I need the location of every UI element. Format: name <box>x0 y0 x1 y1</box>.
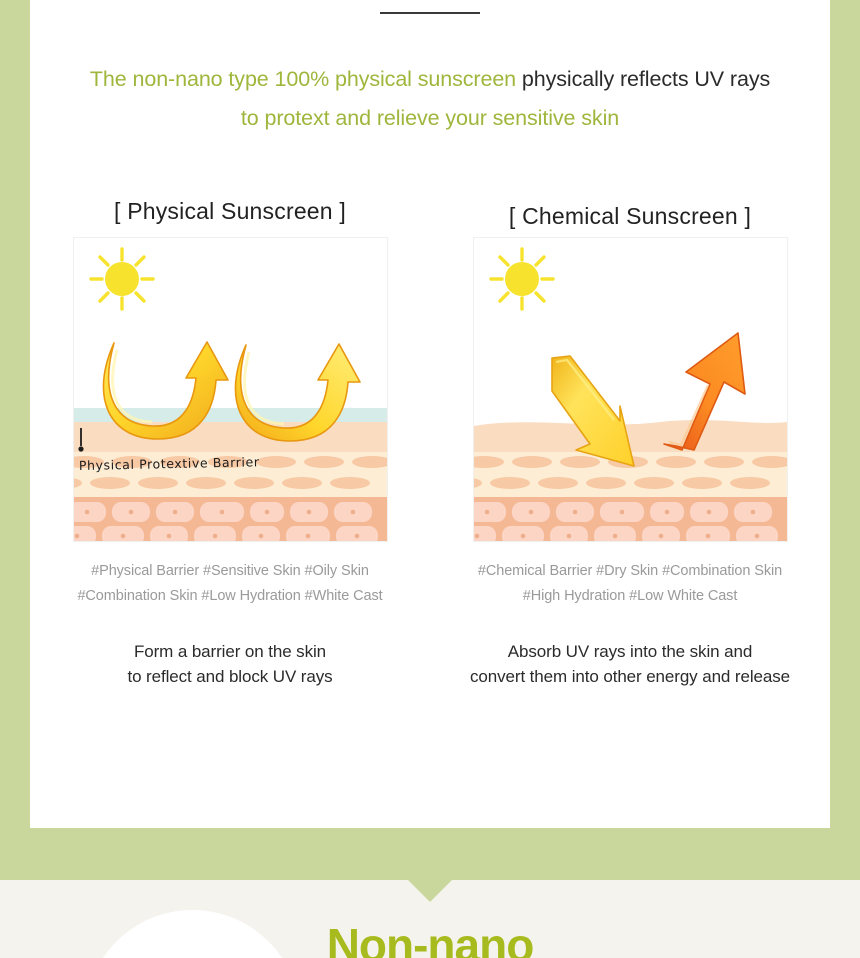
sun-disc <box>105 262 139 296</box>
headline-accent-text: The non-nano type 100% physical sunscree… <box>90 67 516 91</box>
physical-sunscreen-diagram: Physical Protextive Barrier <box>74 238 387 541</box>
description-chemical-line-2: convert them into other energy and relea… <box>470 664 790 689</box>
description-physical-line-2: to reflect and block UV rays <box>127 664 332 689</box>
page-root: The non-nano type 100% physical sunscree… <box>0 0 860 958</box>
column-title-chemical: [ Chemical Sunscreen ] <box>509 203 751 230</box>
column-chemical-sunscreen: [ Chemical Sunscreen ] <box>430 198 830 689</box>
headline-line-1: The non-nano type 100% physical sunscree… <box>30 60 830 99</box>
tags-chemical: #Chemical Barrier #Dry Skin #Combination… <box>478 559 782 609</box>
description-chemical-line-1: Absorb UV rays into the skin and <box>470 639 790 664</box>
sun-disc <box>505 262 539 296</box>
headline-line-2: to protext and relieve your sensitive sk… <box>30 99 830 138</box>
column-title-physical: [ Physical Sunscreen ] <box>114 198 346 225</box>
description-chemical: Absorb UV rays into the skin and convert… <box>470 639 790 689</box>
tags-chemical-line-1: #Chemical Barrier #Dry Skin #Combination… <box>478 559 782 584</box>
headline-plain-text: physically reflects UV rays <box>516 67 770 91</box>
column-physical-sunscreen: [ Physical Sunscreen ] <box>30 198 430 689</box>
illustration-physical-sunscreen: Physical Protextive Barrier <box>74 238 387 541</box>
tags-physical-line-2: #Combination Skin #Low Hydration #White … <box>77 584 382 609</box>
chemical-sunscreen-diagram <box>474 238 787 541</box>
comparison-columns: [ Physical Sunscreen ] <box>30 198 830 689</box>
headline: The non-nano type 100% physical sunscree… <box>30 60 830 138</box>
green-frame-notch <box>408 880 452 902</box>
tags-physical: #Physical Barrier #Sensitive Skin #Oily … <box>77 559 382 609</box>
description-physical: Form a barrier on the skin to reflect an… <box>127 639 332 689</box>
tags-chemical-line-2: #High Hydration #Low White Cast <box>478 584 782 609</box>
bottom-teaser-heading: Non-nano <box>0 918 860 958</box>
top-divider-rule <box>380 12 480 14</box>
illustration-chemical-sunscreen <box>474 238 787 541</box>
tags-physical-line-1: #Physical Barrier #Sensitive Skin #Oily … <box>77 559 382 584</box>
content-card: The non-nano type 100% physical sunscree… <box>30 0 830 828</box>
description-physical-line-1: Form a barrier on the skin <box>127 639 332 664</box>
